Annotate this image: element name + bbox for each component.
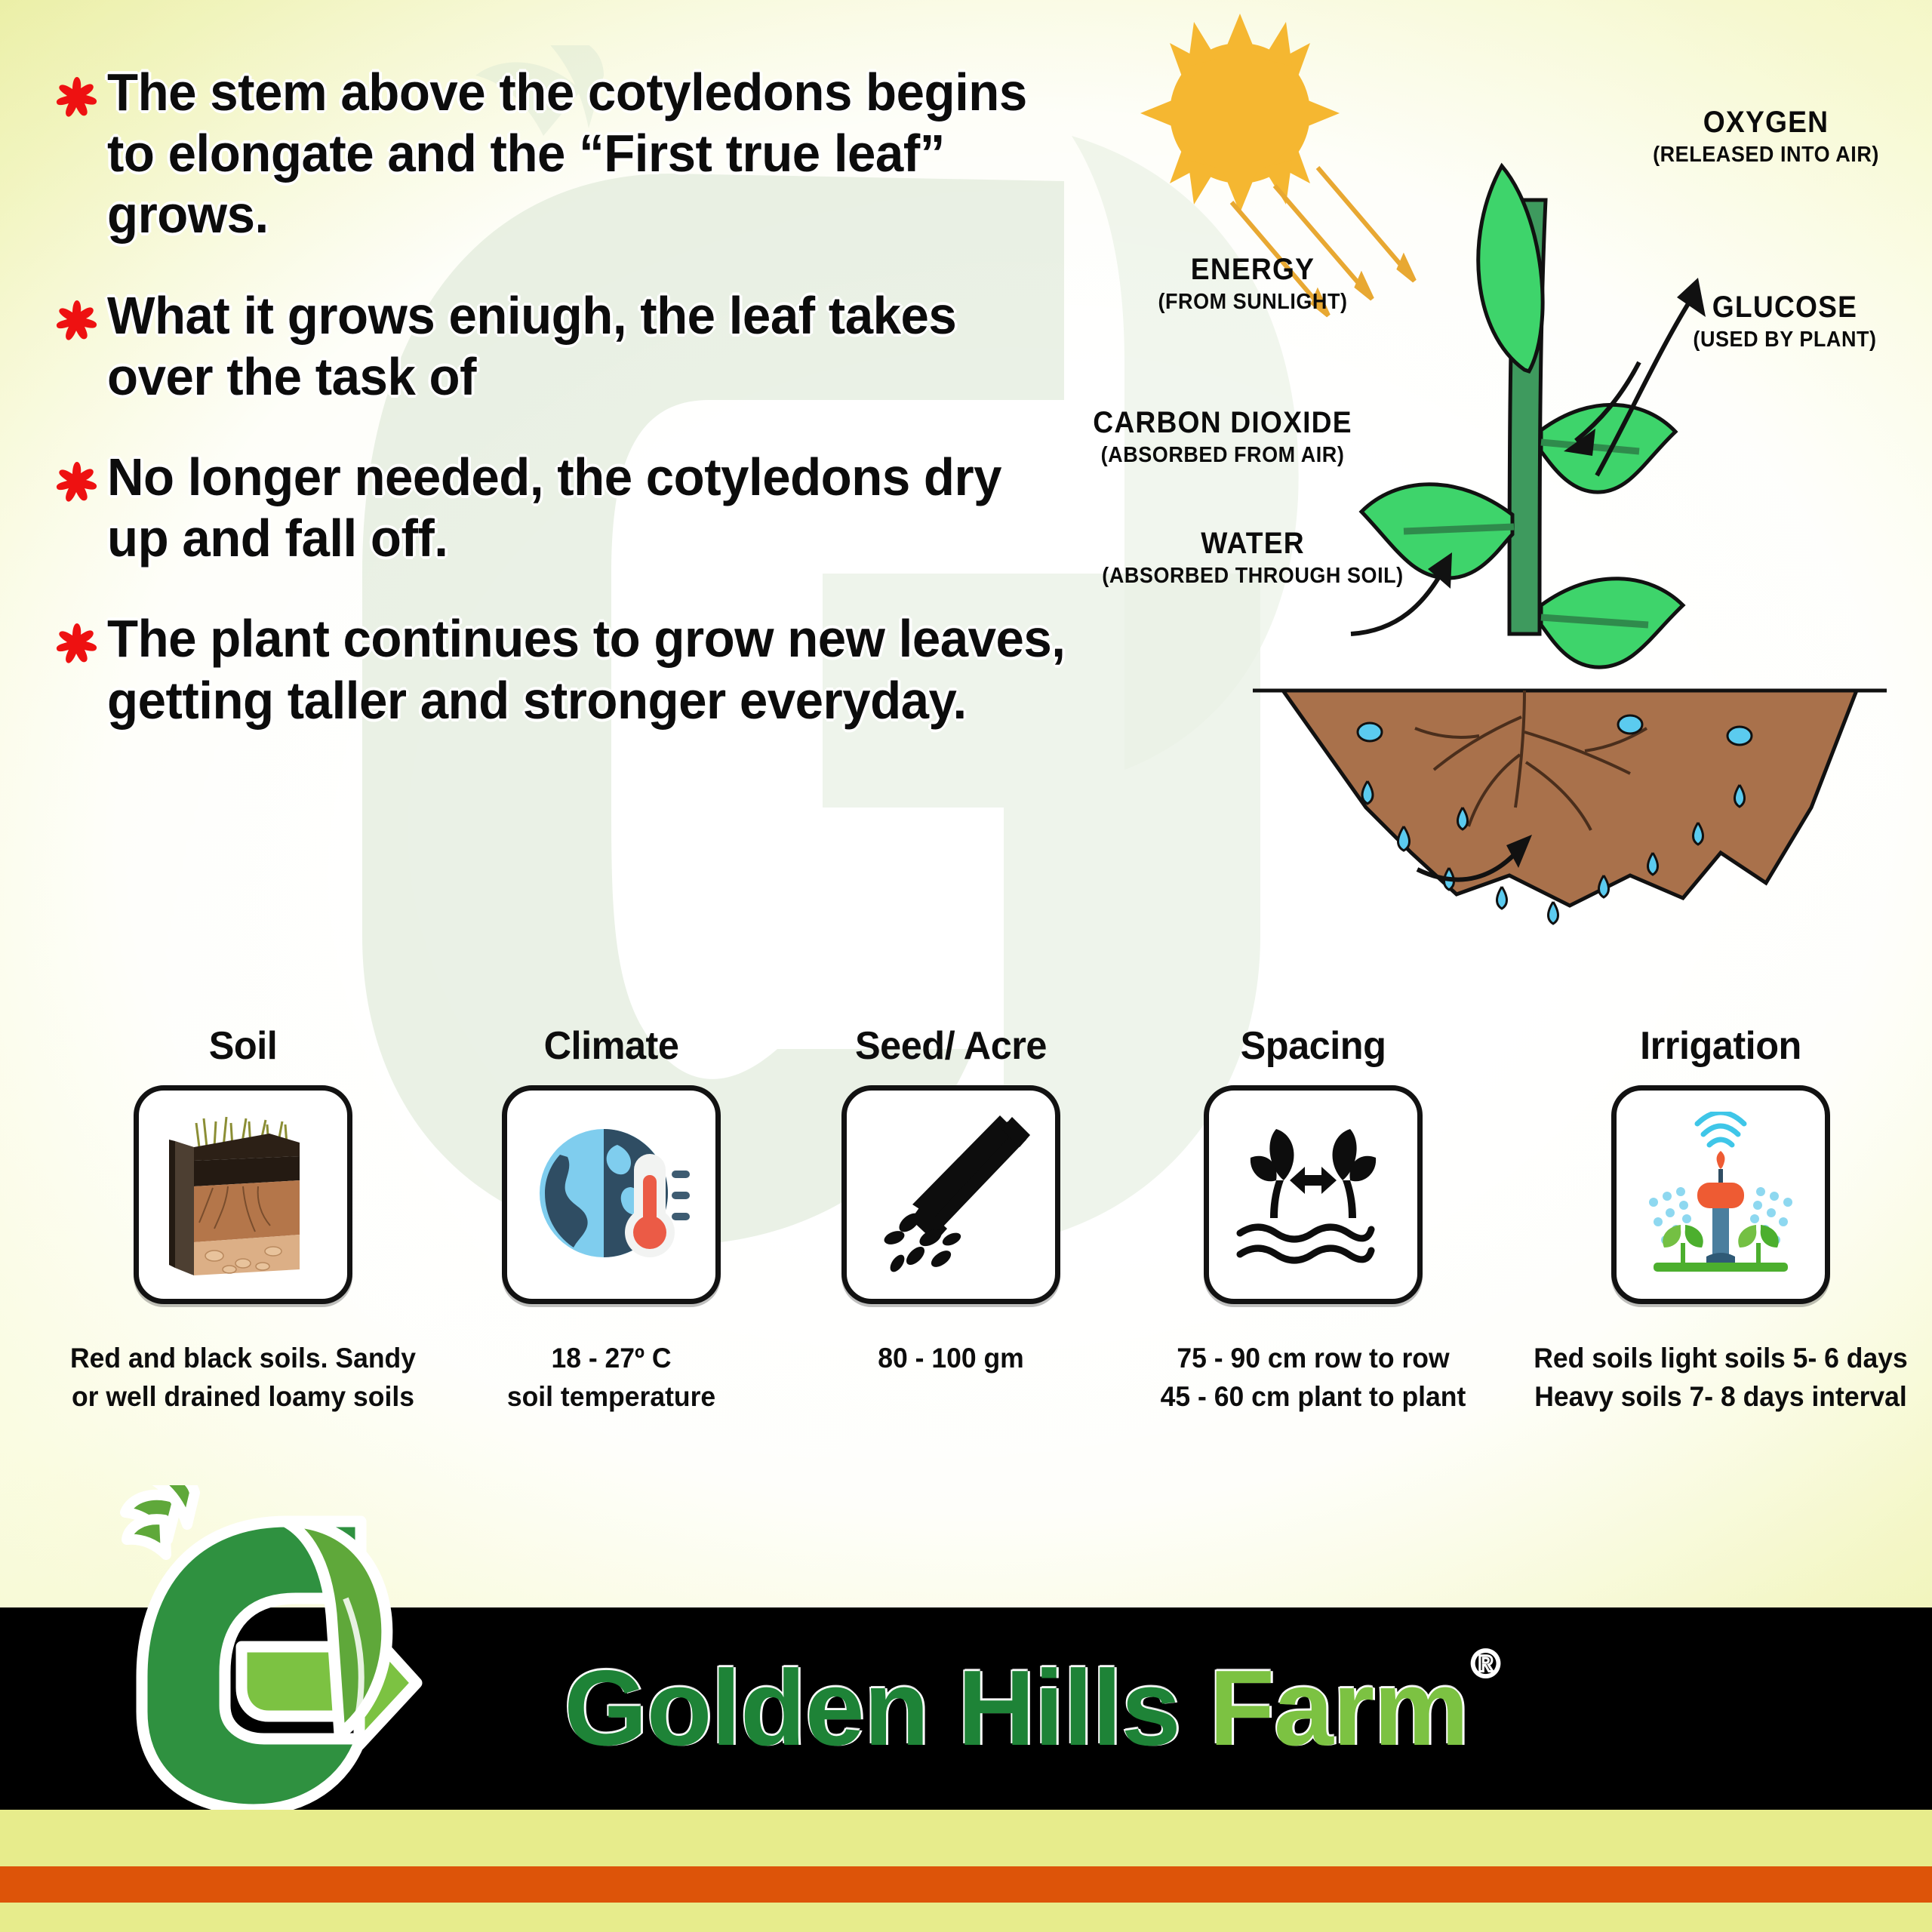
info-caption-climate: 18 - 27º C soil temperature xyxy=(459,1339,763,1416)
label-carbon-dioxide: CARBON DIOXIDE (ABSORBED FROM AIR) xyxy=(1034,406,1411,468)
info-column-soil: Soil xyxy=(54,1023,432,1416)
info-caption-soil: Red and black soils. Sandy or well drain… xyxy=(62,1339,424,1416)
label-water-main: WATER xyxy=(1070,527,1435,561)
label-oxygen-sub: (RELEASED INTO AIR) xyxy=(1611,143,1920,168)
info-caption-spacing: 75 - 90 cm row to row 45 - 60 cm plant t… xyxy=(1124,1339,1501,1416)
list-item-label: The plant continues to grow new leaves, … xyxy=(107,608,1071,731)
label-glucose: GLUCOSE (USED BY PLANT) xyxy=(1623,291,1932,352)
info-column-seed-acre: Seed/ Acre 80 - 100 gm xyxy=(785,1023,1117,1377)
info-heading-spacing: Spacing xyxy=(1123,1023,1503,1069)
label-co2-main: CARBON DIOXIDE xyxy=(1048,406,1398,440)
seedling-right xyxy=(1738,1225,1778,1263)
label-water-sub: (ABSORBED THROUGH SOIL) xyxy=(1070,564,1435,589)
info-heading-seed-acre: Seed/ Acre xyxy=(790,1023,1112,1069)
info-column-irrigation: Irrigation xyxy=(1509,1023,1932,1416)
soil-profile-block-icon[interactable] xyxy=(134,1085,352,1304)
red-asterisk-star-icon xyxy=(54,447,101,509)
info-heading-irrigation: Irrigation xyxy=(1515,1023,1925,1069)
list-item: What it grows eniugh, the leaf takes ove… xyxy=(54,285,1111,408)
caption-line: 80 - 100 gm xyxy=(792,1339,1110,1377)
registered-trademark-icon: ® xyxy=(1471,1642,1499,1686)
footer-orange-stripe xyxy=(0,1866,1932,1903)
caption-line: Heavy soils 7- 8 days interval xyxy=(1518,1377,1924,1416)
nozzle-tip xyxy=(1717,1151,1725,1169)
globe-thermometer-icon[interactable] xyxy=(502,1085,721,1304)
ground-line xyxy=(1654,1263,1788,1272)
list-item: The stem above the cotyledons begins to … xyxy=(54,62,1111,246)
caption-line: 75 - 90 cm row to row xyxy=(1124,1339,1501,1377)
list-item-label: The stem above the cotyledons begins to … xyxy=(107,62,1071,246)
label-oxygen-main: OXYGEN xyxy=(1611,106,1920,140)
two-plants-spacing-arrow-icon[interactable] xyxy=(1204,1085,1423,1304)
brand-name-part1: Golden Hills xyxy=(564,1648,1209,1768)
seed-bag-pouring-icon[interactable] xyxy=(841,1085,1060,1304)
sun-icon xyxy=(1140,14,1340,213)
info-caption-seed-acre: 80 - 100 gm xyxy=(792,1339,1110,1377)
crop-info-icon-row: Soil xyxy=(0,1023,1932,1491)
info-caption-irrigation: Red soils light soils 5- 6 days Heavy so… xyxy=(1518,1339,1924,1416)
label-energy-sub: (FROM SUNLIGHT) xyxy=(1106,290,1401,315)
label-oxygen: OXYGEN (RELEASED INTO AIR) xyxy=(1600,106,1932,168)
list-item-label: What it grows eniugh, the leaf takes ove… xyxy=(107,285,1071,408)
info-heading-climate: Climate xyxy=(457,1023,764,1069)
bullet-list: The stem above the cotyledons begins to … xyxy=(54,62,1111,771)
list-item: The plant continues to grow new leaves, … xyxy=(54,608,1111,731)
red-asterisk-star-icon xyxy=(54,62,101,125)
signal-waves-icon xyxy=(1697,1112,1744,1145)
list-item-label: No longer needed, the cotyledons dry up … xyxy=(107,447,1071,569)
sprinkler-head xyxy=(1697,1183,1744,1208)
sprinkler-icon[interactable] xyxy=(1611,1085,1830,1304)
caption-line: soil temperature xyxy=(459,1377,763,1416)
list-item: No longer needed, the cotyledons dry up … xyxy=(54,447,1111,569)
photosynthesis-diagram: OXYGEN (RELEASED INTO AIR) ENERGY (FROM … xyxy=(1102,8,1932,958)
caption-line: 45 - 60 cm plant to plant xyxy=(1124,1377,1501,1416)
label-glucose-sub: (USED BY PLANT) xyxy=(1634,328,1932,352)
info-column-spacing: Spacing 75 - 90 cm row to row xyxy=(1117,1023,1509,1416)
caption-line: Red soils light soils 5- 6 days xyxy=(1518,1339,1924,1377)
brand-name-part2: Farm xyxy=(1209,1648,1468,1768)
golden-hills-farm-leaf-g-logo[interactable] xyxy=(106,1485,430,1810)
label-water: WATER (ABSORBED THROUGH SOIL) xyxy=(1057,527,1449,589)
caption-line: 18 - 27º C xyxy=(459,1339,763,1377)
label-energy-main: ENERGY xyxy=(1106,253,1401,287)
caption-line: or well drained loamy soils xyxy=(62,1377,424,1416)
label-co2-sub: (ABSORBED FROM AIR) xyxy=(1048,443,1398,468)
caption-line: Red and black soils. Sandy xyxy=(62,1339,424,1377)
red-asterisk-star-icon xyxy=(54,285,101,348)
info-column-climate: Climate xyxy=(453,1023,770,1416)
label-energy: ENERGY (FROM SUNLIGHT) xyxy=(1094,253,1411,315)
info-heading-soil: Soil xyxy=(60,1023,426,1069)
seedling-left xyxy=(1663,1225,1703,1263)
label-glucose-main: GLUCOSE xyxy=(1634,291,1932,325)
red-asterisk-star-icon xyxy=(54,608,101,671)
leaf-top xyxy=(1478,166,1543,371)
